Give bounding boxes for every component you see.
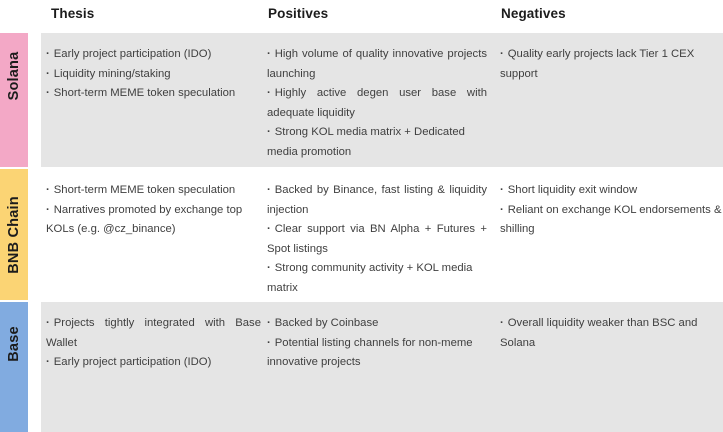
row-cells: Projects tightly integrated with Base Wa… <box>41 302 723 432</box>
row-label-bnb-chain: BNB Chain <box>0 169 28 300</box>
list-item: Projects tightly integrated with Base Wa… <box>46 314 261 353</box>
cell-negatives: Overall liquidity weaker than BSC and So… <box>500 314 722 353</box>
table-header-row: Thesis Positives Negatives <box>0 0 723 33</box>
row-label-text: Solana <box>6 52 22 101</box>
cell-thesis: Early project participation (IDO) Liquid… <box>46 45 261 104</box>
cell-positives: Backed by Coinbase Potential listing cha… <box>267 314 487 373</box>
list-item: Early project participation (IDO) <box>46 353 261 373</box>
row-label-text: Base <box>6 326 22 361</box>
list-item: Strong community activity + KOL media ma… <box>267 259 487 298</box>
table-row: Solana Early project participation (IDO)… <box>0 33 723 167</box>
list-item: Strong KOL media matrix + Dedicated medi… <box>267 123 487 162</box>
list-item: Quality early projects lack Tier 1 CEX s… <box>500 45 722 84</box>
list-item: Overall liquidity weaker than BSC and So… <box>500 314 722 353</box>
list-item: Liquidity mining/staking <box>46 65 261 85</box>
label-spacer <box>28 302 41 432</box>
bullet-list: Overall liquidity weaker than BSC and So… <box>500 314 722 353</box>
table-row: Base Projects tightly integrated with Ba… <box>0 302 723 432</box>
list-item: Backed by Coinbase <box>267 314 487 334</box>
list-item: Early project participation (IDO) <box>46 45 261 65</box>
bullet-list: High volume of quality innovative projec… <box>267 45 487 162</box>
label-spacer <box>28 33 41 167</box>
column-header-positives: Positives <box>268 6 328 21</box>
row-label-base: Base <box>0 302 28 432</box>
bullet-list: Early project participation (IDO) Liquid… <box>46 45 261 104</box>
label-spacer <box>28 169 41 300</box>
row-label-text: BNB Chain <box>6 196 22 274</box>
row-cells: Short-term MEME token speculation Narrat… <box>41 169 723 300</box>
cell-thesis: Short-term MEME token speculation Narrat… <box>46 181 261 240</box>
list-item: Narratives promoted by exchange top KOLs… <box>46 201 261 240</box>
cell-negatives: Short liquidity exit window Reliant on e… <box>500 181 722 240</box>
chain-comparison-table: Thesis Positives Negatives Solana Early … <box>0 0 723 432</box>
row-cells: Early project participation (IDO) Liquid… <box>41 33 723 167</box>
list-item: Highly active degen user base with adequ… <box>267 84 487 123</box>
bullet-list: Backed by Coinbase Potential listing cha… <box>267 314 487 373</box>
list-item: Potential listing channels for non-meme … <box>267 334 487 373</box>
list-item: Short-term MEME token speculation <box>46 84 261 104</box>
list-item: Short liquidity exit window <box>500 181 722 201</box>
table-row: BNB Chain Short-term MEME token speculat… <box>0 169 723 300</box>
list-item: High volume of quality innovative projec… <box>267 45 487 84</box>
cell-positives: Backed by Binance, fast listing & liquid… <box>267 181 487 298</box>
list-item: Clear support via BN Alpha + Futures + S… <box>267 220 487 259</box>
row-label-solana: Solana <box>0 33 28 167</box>
bullet-list: Short-term MEME token speculation Narrat… <box>46 181 261 240</box>
column-header-negatives: Negatives <box>501 6 566 21</box>
list-item: Reliant on exchange KOL endorsements & s… <box>500 201 722 240</box>
bullet-list: Backed by Binance, fast listing & liquid… <box>267 181 487 298</box>
bullet-list: Projects tightly integrated with Base Wa… <box>46 314 261 373</box>
bullet-list: Short liquidity exit window Reliant on e… <box>500 181 722 240</box>
list-item: Short-term MEME token speculation <box>46 181 261 201</box>
cell-negatives: Quality early projects lack Tier 1 CEX s… <box>500 45 722 84</box>
list-item: Backed by Binance, fast listing & liquid… <box>267 181 487 220</box>
cell-thesis: Projects tightly integrated with Base Wa… <box>46 314 261 373</box>
cell-positives: High volume of quality innovative projec… <box>267 45 487 162</box>
column-header-thesis: Thesis <box>51 6 94 21</box>
bullet-list: Quality early projects lack Tier 1 CEX s… <box>500 45 722 84</box>
